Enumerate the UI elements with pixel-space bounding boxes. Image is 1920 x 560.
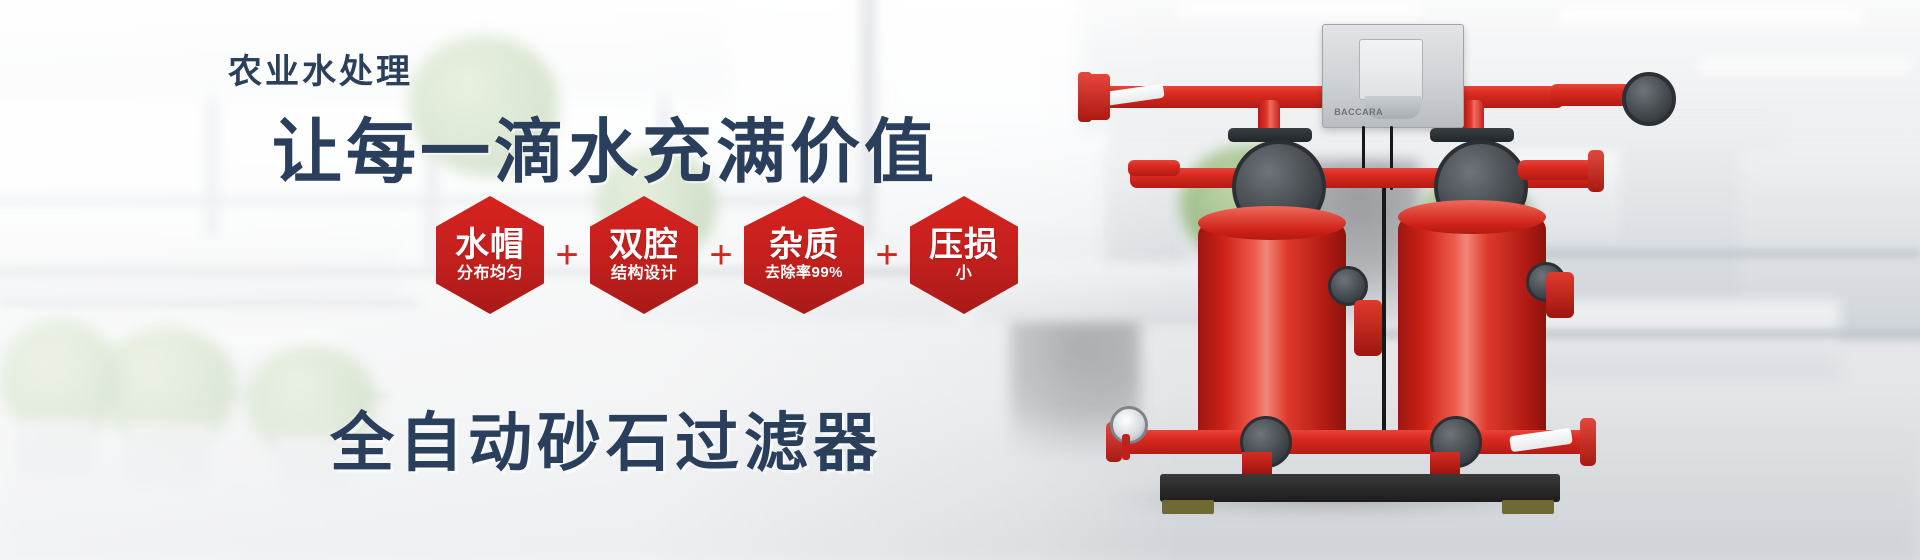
badge-4-sub: 小 <box>956 265 973 283</box>
eyebrow-text: 农业水处理 <box>228 44 413 93</box>
badge-1-sub: 分布均匀 <box>457 265 523 283</box>
feature-badge-row: 水帽 分布均匀 + 双腔 结构设计 + 杂质 去除率99% + 压损 小 <box>436 196 1018 314</box>
badge-3-main: 杂质 <box>769 228 839 263</box>
feature-badge-2: 双腔 结构设计 <box>590 196 698 314</box>
feature-badge-4: 压损 小 <box>910 196 1018 314</box>
badge-2-sub: 结构设计 <box>611 265 677 283</box>
plus-separator-2: + <box>698 235 744 275</box>
copy-block: 农业水处理 让每一滴水充满价值 全自动砂石过滤器 水帽 分布均匀 + 双腔 结构… <box>0 0 1180 560</box>
headline-text: 让每一滴水充满价值 <box>272 96 938 197</box>
badge-1-main: 水帽 <box>455 228 525 263</box>
plus-separator-3: + <box>864 235 910 275</box>
badge-3-sub: 去除率99% <box>765 265 843 282</box>
promo-banner: 农业水处理 让每一滴水充满价值 全自动砂石过滤器 水帽 分布均匀 + 双腔 结构… <box>0 0 1920 560</box>
feature-badge-3: 杂质 去除率99% <box>744 196 864 314</box>
controller-brand-label: BACCARA <box>1334 107 1383 117</box>
subhead-text: 全自动砂石过滤器 <box>330 392 882 484</box>
badge-4-main: 压损 <box>929 228 999 263</box>
badge-2-main: 双腔 <box>609 228 679 263</box>
feature-badge-1: 水帽 分布均匀 <box>436 196 544 314</box>
product-image-sand-filter: BACCARA <box>1010 0 1710 560</box>
plus-separator-1: + <box>544 235 590 275</box>
